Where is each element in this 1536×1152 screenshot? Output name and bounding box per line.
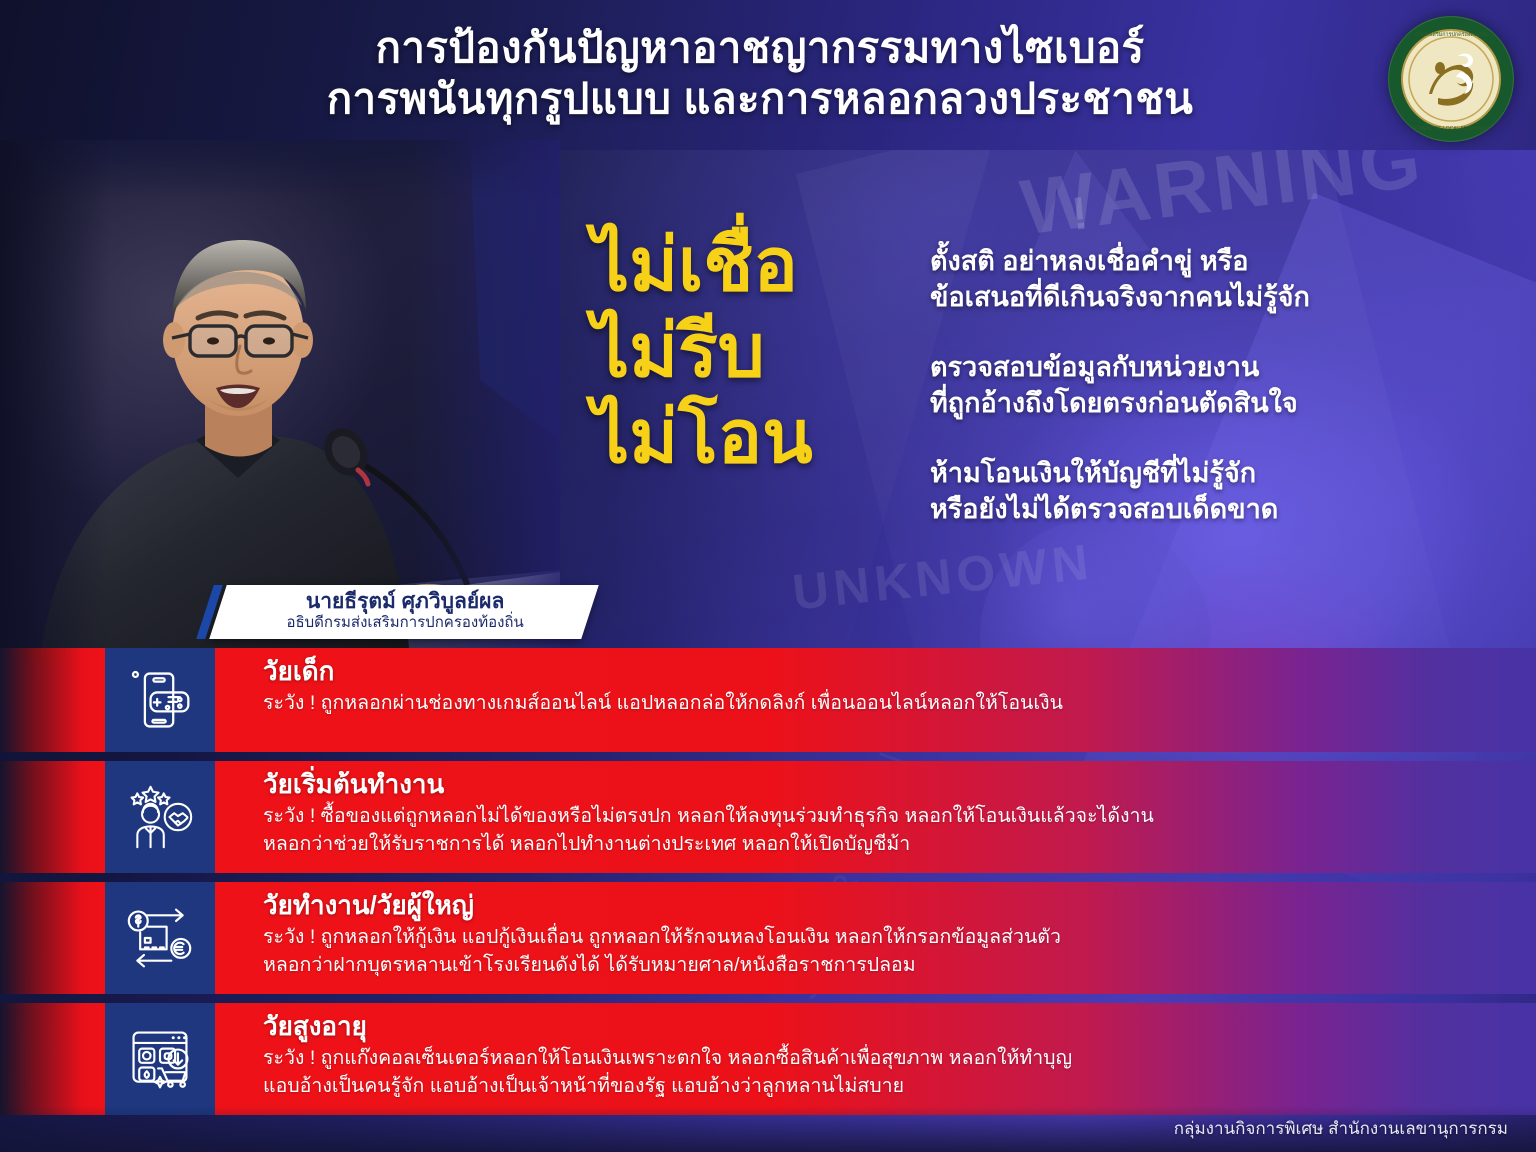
slogan-detail-3: ห้ามโอนเงินให้บัญชีที่ไม่รู้จัก หรือยังไ…	[930, 456, 1510, 528]
row-content: วัยสูงอายุ ระวัง ! ถูกแก๊งคอลเซ็นเตอร์หล…	[215, 1003, 1536, 1115]
mobile-game-controller-icon	[105, 648, 215, 752]
detail-line: ตรวจสอบข้อมูลกับหน่วยงาน	[930, 350, 1510, 386]
description-line: หลอกว่าฝากบุตรหลานเข้าโรงเรียนดังได้ ได้…	[263, 952, 1536, 980]
description-line: แอบอ้างเป็นคนรู้จัก แอบอ้างเป็นเจ้าหน้าท…	[263, 1073, 1536, 1101]
age-group-list: วัยเด็ก ระวัง ! ถูกหลอกผ่านช่องทางเกมส์อ…	[0, 648, 1536, 1124]
age-group-title: วัยสูงอายุ	[263, 1012, 1536, 1042]
description-line: ระวัง ! ถูกหลอกผ่านช่องทางเกมส์ออนไลน์ แ…	[263, 690, 1536, 718]
online-shopping-browser-icon	[105, 1003, 215, 1115]
speaker-nameplate: นายธีรุตม์ ศุภวิบูลย์ผล อธิบดีกรมส่งเสริ…	[209, 585, 599, 639]
speaker-name: นายธีรุตม์ ศุภวิบูลย์ผล	[219, 590, 591, 614]
row-content: วัยทำงาน/วัยผู้ใหญ่ ระวัง ! ถูกหลอกให้กู…	[215, 882, 1536, 994]
title-line-2: การพนันทุกรูปแบบ และการหลอกลวงประชาชน	[160, 73, 1360, 124]
photo-fade-right	[410, 140, 560, 660]
photo-fade-left	[0, 140, 110, 660]
age-group-title: วัยเด็ก	[263, 657, 1536, 687]
person-stars-handshake-icon	[105, 761, 215, 873]
department-seal-icon: กรมส่งเสริมการปกครองท้องถิ่น DEPARTMENT …	[1388, 16, 1514, 142]
slogan-headline-3: ไม่โอน	[592, 394, 902, 480]
row-accent-strip	[0, 1003, 105, 1115]
speaker-role: อธิบดีกรมส่งเสริมการปกครองท้องถิ่น	[219, 614, 591, 632]
svg-text:กรมส่งเสริมการปกครองท้องถิ่น: กรมส่งเสริมการปกครองท้องถิ่น	[1415, 30, 1487, 38]
age-group-row: วัยเด็ก ระวัง ! ถูกหลอกผ่านช่องทางเกมส์อ…	[0, 648, 1536, 752]
age-group-description: ระวัง ! ถูกหลอกให้กู้เงิน แอปกู้เงินเถื่…	[263, 924, 1536, 979]
title-line-1: การป้องกันปัญหาอาชญากรรมทางไซเบอร์	[376, 24, 1145, 71]
description-line: ระวัง ! ซื้อของแต่ถูกหลอกไม่ได้ของหรือไม…	[263, 803, 1536, 831]
age-group-description: ระวัง ! ถูกหลอกผ่านช่องทางเกมส์ออนไลน์ แ…	[263, 690, 1536, 718]
detail-line: ห้ามโอนเงินให้บัญชีที่ไม่รู้จัก	[930, 456, 1510, 492]
unknown-watermark: UNKNOWN	[790, 532, 1096, 621]
footer-credit: กลุ่มงานกิจการพิเศษ สำนักงานเลขานุการกรม	[1174, 1115, 1508, 1142]
age-group-row: วัยสูงอายุ ระวัง ! ถูกแก๊งคอลเซ็นเตอร์หล…	[0, 1003, 1536, 1115]
description-line: ระวัง ! ถูกแก๊งคอลเซ็นเตอร์หลอกให้โอนเงิ…	[263, 1045, 1536, 1073]
slogan-detail-2: ตรวจสอบข้อมูลกับหน่วยงาน ที่ถูกอ้างถึงโด…	[930, 350, 1510, 422]
slogan-column: ไม่เชื่อ ไม่รีบ ไม่โอน	[592, 222, 902, 479]
detail-line: ตั้งสติ อย่าหลงเชื่อคำขู่ หรือ	[930, 244, 1510, 280]
description-line: ระวัง ! ถูกหลอกให้กู้เงิน แอปกู้เงินเถื่…	[263, 924, 1536, 952]
infographic-poster: ! WARNING UNKNOWN SECURE ONLINE การป้องก…	[0, 0, 1536, 1152]
age-group-description: ระวัง ! ถูกแก๊งคอลเซ็นเตอร์หลอกให้โอนเงิ…	[263, 1045, 1536, 1100]
age-group-title: วัยเริ่มต้นทำงาน	[263, 770, 1536, 800]
age-group-row: วัยเริ่มต้นทำงาน ระวัง ! ซื้อของแต่ถูกหล…	[0, 761, 1536, 873]
detail-line: หรือยังไม่ได้ตรวจสอบเด็ดขาด	[930, 492, 1510, 528]
row-accent-strip	[0, 648, 105, 752]
speaker-photo	[0, 140, 560, 660]
row-content: วัยเด็ก ระวัง ! ถูกหลอกผ่านช่องทางเกมส์อ…	[215, 648, 1536, 752]
slogan-detail-column: ตั้งสติ อย่าหลงเชื่อคำขู่ หรือ ข้อเสนอที…	[930, 244, 1510, 527]
age-group-description: ระวัง ! ซื้อของแต่ถูกหลอกไม่ได้ของหรือไม…	[263, 803, 1536, 858]
row-accent-strip	[0, 761, 105, 873]
exclamation-mark-icon: !	[1069, 185, 1091, 240]
age-group-title: วัยทำงาน/วัยผู้ใหญ่	[263, 891, 1536, 921]
slogan-headline-1: ไม่เชื่อ	[592, 222, 902, 308]
detail-line: ข้อเสนอที่ดีเกินจริงจากคนไม่รู้จัก	[930, 280, 1510, 316]
row-content: วัยเริ่มต้นทำงาน ระวัง ! ซื้อของแต่ถูกหล…	[215, 761, 1536, 873]
slogan-headline-2: ไม่รีบ	[592, 308, 902, 394]
money-transfer-icon	[105, 882, 215, 994]
page-title: การป้องกันปัญหาอาชญากรรมทางไซเบอร์ การพน…	[160, 22, 1360, 124]
row-accent-strip	[0, 882, 105, 994]
description-line: หลอกว่าช่วยให้รับราชการได้ หลอกไปทำงานต่…	[263, 831, 1536, 859]
age-group-row: วัยทำงาน/วัยผู้ใหญ่ ระวัง ! ถูกหลอกให้กู…	[0, 882, 1536, 994]
detail-line: ที่ถูกอ้างถึงโดยตรงก่อนตัดสินใจ	[930, 386, 1510, 422]
slogan-detail-1: ตั้งสติ อย่าหลงเชื่อคำขู่ หรือ ข้อเสนอที…	[930, 244, 1510, 316]
svg-text:DEPARTMENT OF LOCAL ADMINISTRA: DEPARTMENT OF LOCAL ADMINISTRATION	[1399, 126, 1503, 132]
